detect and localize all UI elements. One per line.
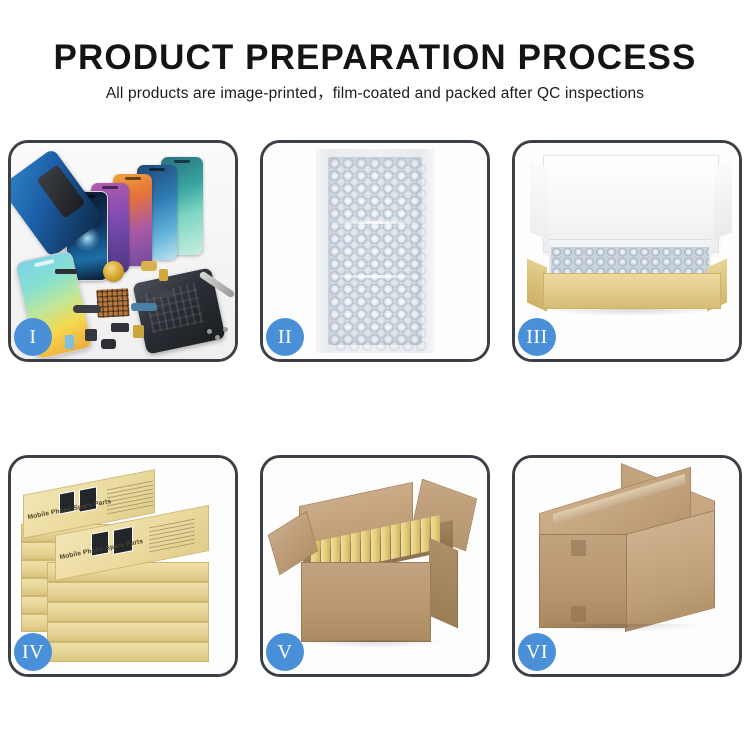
screw-icon — [207, 329, 212, 334]
step-badge-6: VI — [518, 633, 556, 671]
kraft-box — [47, 622, 209, 642]
spare-part-icon — [65, 335, 74, 349]
spare-part-icon — [131, 303, 157, 311]
yellow-box-item — [401, 521, 410, 557]
carton-flap-tab — [571, 606, 586, 622]
step-badge-4: IV — [14, 633, 52, 671]
yellow-box-item — [381, 525, 390, 561]
phone-notch-icon — [125, 177, 141, 180]
process-steps-grid: I II III — [8, 140, 742, 683]
yellow-box-item — [371, 528, 380, 564]
spare-part-icon — [55, 269, 77, 274]
spare-part-icon — [85, 329, 97, 341]
process-step-panel-5[interactable]: V — [260, 455, 490, 677]
spare-part-icon — [133, 325, 144, 338]
screw-icon — [215, 335, 220, 340]
spare-part-icon — [141, 261, 157, 271]
phone-notch-icon — [102, 186, 118, 189]
coil-part-icon — [103, 261, 124, 282]
step-badge-1: I — [14, 318, 52, 356]
carton-front-face — [301, 562, 431, 642]
page-header: PRODUCT PREPARATION PROCESS All products… — [0, 0, 750, 126]
process-step-panel-3[interactable]: III — [512, 140, 742, 362]
phone-notch-icon — [174, 160, 190, 163]
wrap-seam — [326, 221, 424, 224]
yellow-box-item — [361, 530, 370, 566]
screw-icon — [223, 327, 228, 332]
carton-shadow — [303, 640, 443, 648]
process-step-panel-2[interactable]: II — [260, 140, 490, 362]
carton-flap-tab — [571, 540, 586, 556]
yellow-box-item — [391, 523, 400, 559]
process-step-panel-1[interactable]: I — [8, 140, 238, 362]
page-subtitle: All products are image-printed，film-coat… — [0, 84, 750, 104]
bubble-wrap-inside-box — [551, 247, 709, 275]
bubble-pattern-overlay-icon — [334, 163, 428, 351]
kraft-box — [47, 602, 209, 622]
process-step-panel-4[interactable]: Mobile Phone Spare Parts Mobile Phone Sp… — [8, 455, 238, 677]
page-title: PRODUCT PREPARATION PROCESS — [0, 38, 750, 78]
chip-grid-part-icon — [96, 288, 129, 318]
spare-part-icon — [159, 269, 168, 281]
step-badge-2: II — [266, 318, 304, 356]
carton-right-face — [429, 538, 458, 629]
spare-part-icon — [101, 339, 116, 349]
spare-part-icon — [73, 305, 101, 313]
box-shadow — [545, 309, 717, 316]
kraft-box — [47, 642, 209, 662]
step-badge-5: V — [266, 633, 304, 671]
step-badge-3: III — [518, 318, 556, 356]
wrap-seam — [326, 275, 424, 278]
bubble-wrap-sheet — [316, 149, 434, 353]
spare-part-icon — [111, 323, 129, 332]
box-front-panel — [543, 273, 721, 309]
spare-part-icon — [151, 291, 173, 297]
kraft-box — [47, 582, 209, 602]
kraft-box-stack: Mobile Phone Spare Parts Mobile Phone Sp… — [17, 466, 229, 670]
phone-notch-icon — [149, 168, 165, 171]
yellow-box-item — [411, 519, 420, 555]
process-step-panel-6[interactable]: VI — [512, 455, 742, 677]
carton-shadow — [543, 624, 699, 632]
